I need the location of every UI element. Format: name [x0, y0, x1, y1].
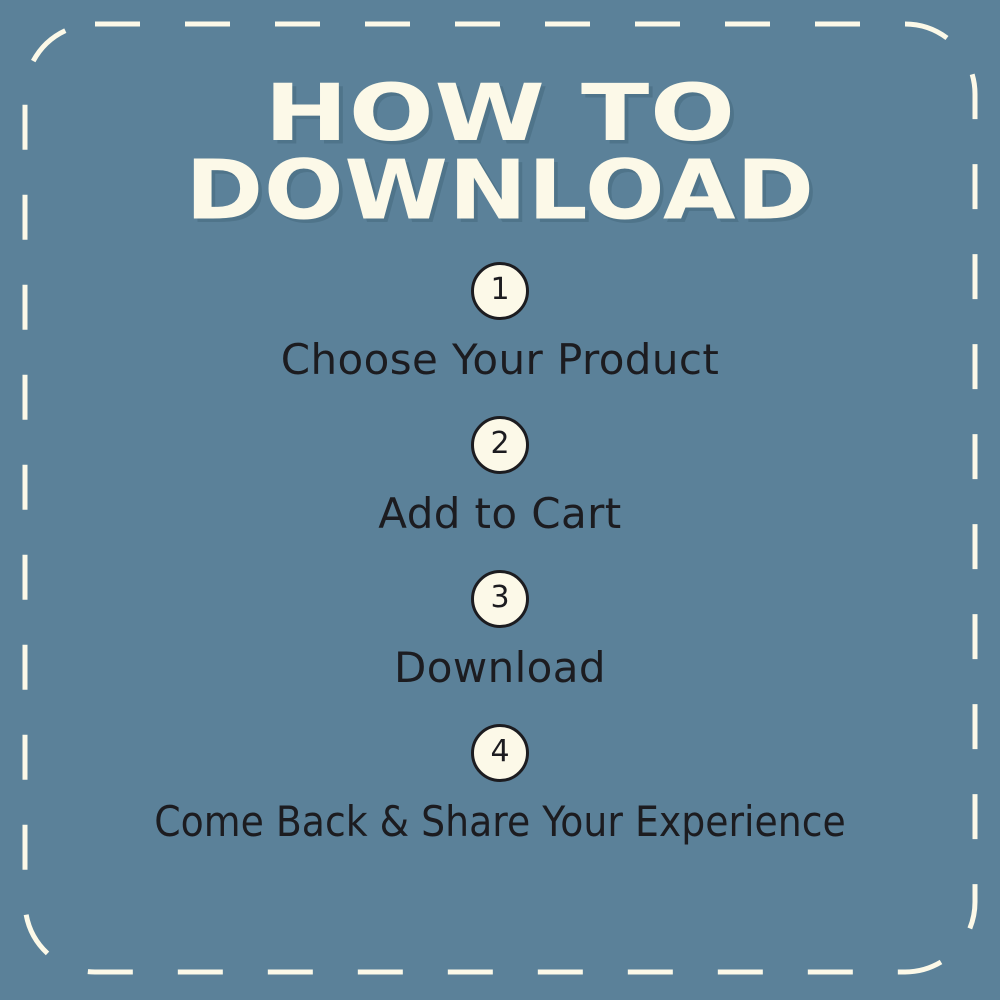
steps-list: 1 Choose Your Product 2 Add to Cart 3 Do…: [0, 262, 1000, 878]
step-item-1: 1 Choose Your Product: [0, 262, 1000, 382]
title-line-download: DOWNLOAD: [0, 154, 1000, 231]
step-item-3: 3 Download: [0, 570, 1000, 690]
step-label-4: Come Back & Share Your Experience: [50, 800, 950, 844]
step-label-2: Add to Cart: [0, 492, 1000, 536]
step-number-badge-1: 1: [471, 262, 529, 320]
step-item-2: 2 Add to Cart: [0, 416, 1000, 536]
step-item-4: 4 Come Back & Share Your Experience: [0, 724, 1000, 844]
step-number-1: 1: [490, 275, 509, 305]
how-to-download-poster: HOW TO DOWNLOAD 1 Choose Your Product 2 …: [0, 0, 1000, 1000]
step-number-badge-4: 4: [471, 724, 529, 782]
step-label-3: Download: [0, 646, 1000, 690]
step-number-2: 2: [490, 429, 509, 459]
title-line-how-to: HOW TO: [0, 78, 1000, 152]
step-number-badge-3: 3: [471, 570, 529, 628]
step-number-4: 4: [490, 737, 509, 767]
poster-title: HOW TO DOWNLOAD: [0, 78, 1000, 227]
step-label-1: Choose Your Product: [0, 338, 1000, 382]
step-number-3: 3: [490, 583, 509, 613]
step-number-badge-2: 2: [471, 416, 529, 474]
